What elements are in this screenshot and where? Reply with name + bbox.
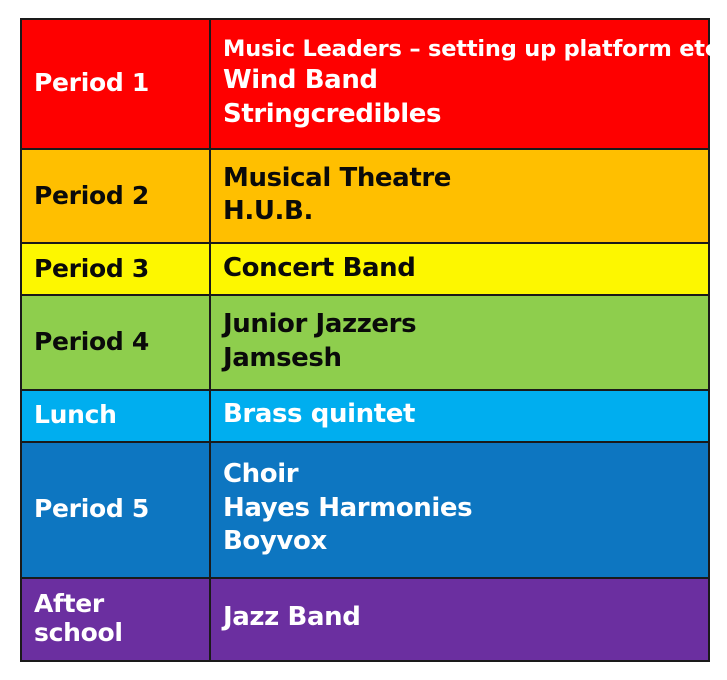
period-label: Lunch <box>34 400 209 430</box>
table-row: Period 4 Junior Jazzers Jamsesh <box>21 295 709 389</box>
period-cell: After school <box>21 578 210 661</box>
activities-cell: Musical Theatre H.U.B. <box>210 149 709 243</box>
activity-item: Boyvox <box>223 525 708 559</box>
activity-item: Brass quintet <box>223 398 708 432</box>
activities-cell: Brass quintet <box>210 390 709 442</box>
table-row: Period 2 Musical Theatre H.U.B. <box>21 149 709 243</box>
activity-item: H.U.B. <box>223 195 708 229</box>
period-cell: Period 3 <box>21 243 210 295</box>
activities-cell: Jazz Band <box>210 578 709 661</box>
period-label: school <box>34 618 209 648</box>
period-cell: Period 4 <box>21 295 210 389</box>
period-label: After <box>34 589 209 619</box>
activity-item: Wind Band <box>223 64 708 98</box>
activity-item: Jazz Band <box>223 601 708 635</box>
activities-cell: Concert Band <box>210 243 709 295</box>
period-cell: Period 1 <box>21 19 210 149</box>
activity-item: Junior Jazzers <box>223 308 708 342</box>
activity-item: Hayes Harmonies <box>223 492 708 526</box>
music-schedule-table: Period 1 Music Leaders – setting up plat… <box>20 18 710 662</box>
schedule-table-container: Period 1 Music Leaders – setting up plat… <box>20 18 710 662</box>
period-label: Period 3 <box>34 254 209 284</box>
period-label: Period 2 <box>34 181 209 211</box>
activity-item: Concert Band <box>223 252 708 286</box>
period-label: Period 5 <box>34 494 209 524</box>
table-row: Period 1 Music Leaders – setting up plat… <box>21 19 709 149</box>
schedule-body: Period 1 Music Leaders – setting up plat… <box>21 19 709 661</box>
period-cell: Period 5 <box>21 442 210 578</box>
activity-item: Jamsesh <box>223 342 708 376</box>
period-cell: Lunch <box>21 390 210 442</box>
period-label: Period 4 <box>34 327 209 357</box>
activity-item: Music Leaders – setting up platform etc. <box>223 35 708 64</box>
activities-cell: Music Leaders – setting up platform etc.… <box>210 19 709 149</box>
table-row: After school Jazz Band <box>21 578 709 661</box>
period-cell: Period 2 <box>21 149 210 243</box>
table-row: Lunch Brass quintet <box>21 390 709 442</box>
activities-cell: Choir Hayes Harmonies Boyvox <box>210 442 709 578</box>
table-row: Period 3 Concert Band <box>21 243 709 295</box>
activity-item: Choir <box>223 458 708 492</box>
period-label: Period 1 <box>34 68 209 98</box>
activity-item: Musical Theatre <box>223 162 708 196</box>
activities-cell: Junior Jazzers Jamsesh <box>210 295 709 389</box>
table-row: Period 5 Choir Hayes Harmonies Boyvox <box>21 442 709 578</box>
activity-item: Stringcredibles <box>223 98 708 132</box>
